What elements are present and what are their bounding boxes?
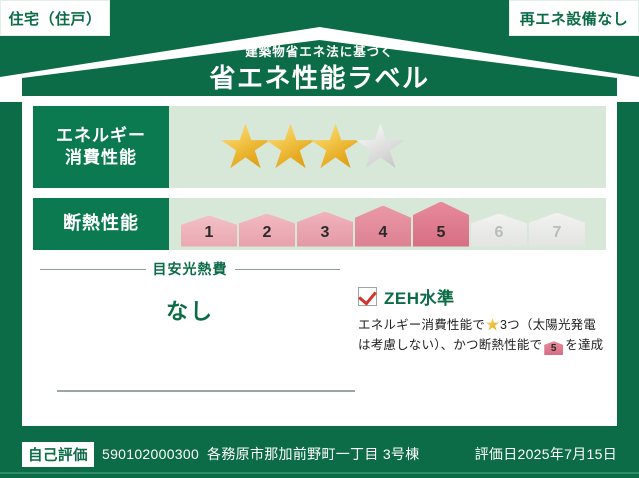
grade-badge-4-label: 4	[379, 224, 388, 242]
energy-performance-key-line2: 消費性能	[65, 147, 137, 169]
grade-badge-1-label: 1	[205, 224, 214, 242]
grade-badge-7-label: 7	[553, 224, 562, 242]
footer-evaluation-date: 評価日2025年7月15日	[475, 444, 617, 464]
energy-performance-key: エネルギー 消費性能	[33, 106, 169, 188]
tab-renewable-energy[interactable]: 再エネ設備なし	[509, 0, 639, 36]
tab-building-type-label: 住宅（住戸）	[8, 8, 101, 29]
energy-performance-key-line1: エネルギー	[56, 125, 146, 147]
star-icon-inline	[486, 318, 499, 331]
zeh-checkbox[interactable]	[358, 287, 377, 306]
insulation-performance-key: 断熱性能	[33, 198, 169, 250]
star-icon-1	[221, 124, 270, 171]
energy-performance-stars	[169, 106, 606, 188]
zeh-title-row: ZEH水準	[358, 284, 608, 309]
footer-divider	[0, 472, 639, 474]
grade-badge-2-label: 2	[263, 224, 272, 242]
grade-badge-1: 1	[181, 216, 237, 247]
utility-cost-value: なし	[40, 294, 340, 326]
star-icon-2	[266, 124, 315, 171]
insulation-performance-grades: 1 2 3 4 5 6 7	[169, 198, 606, 250]
utility-cost-caption: 目安光熱費	[146, 259, 235, 279]
tab-building-type[interactable]: 住宅（住戸）	[0, 0, 110, 36]
grade-badge-6-label: 6	[495, 224, 504, 242]
bottom-divider	[57, 390, 355, 392]
check-icon	[358, 286, 377, 305]
grade-badge-5-label: 5	[437, 224, 446, 242]
insulation-performance-key-label: 断熱性能	[63, 212, 139, 235]
utility-cost-rule-right	[235, 269, 341, 270]
grade-badge-4: 4	[355, 206, 411, 247]
zeh-desc-star-count: 3つ（太陽光発電	[500, 318, 596, 332]
self-evaluation-badge: 自己評価	[22, 442, 94, 467]
utility-cost-rule-left	[40, 269, 146, 270]
page-title: 省エネ性能ラベル	[0, 58, 639, 95]
footer-address: 各務原市那加前野町一丁目 3号棟	[207, 444, 419, 464]
grade-badge-3-label: 3	[321, 224, 330, 242]
label-card: エネルギー 消費性能 断熱性能 1 2 3 4 5	[22, 96, 617, 426]
footer-bar: 自己評価 590102000300 各務原市那加前野町一丁目 3号棟 評価日20…	[0, 430, 639, 478]
energy-performance-row: エネルギー 消費性能	[33, 106, 606, 188]
grade-list: 1 2 3 4 5 6 7	[181, 202, 587, 247]
energy-performance-label: 住宅（住戸） 再エネ設備なし 建築物省エネ法に基づく 省エネ性能ラベル エネルギ…	[0, 0, 639, 478]
zeh-desc-part2: は考慮しない）、かつ断熱性能で	[358, 338, 542, 352]
zeh-desc-part3: を達成	[565, 338, 603, 352]
insulation-performance-row: 断熱性能 1 2 3 4 5 6 7	[33, 198, 606, 250]
zeh-label: ZEH水準	[384, 284, 455, 309]
footer-id: 590102000300	[102, 446, 199, 462]
zeh-description: エネルギー消費性能で3つ（太陽光発電は考慮しない）、かつ断熱性能で5を達成	[358, 315, 608, 356]
tab-renewable-energy-label: 再エネ設備なし	[520, 8, 629, 29]
grade-badge-2: 2	[239, 214, 295, 247]
grade-badge-3: 3	[297, 212, 353, 247]
grade-badge-inline: 5	[544, 341, 563, 355]
grade-badge-5: 5	[413, 202, 469, 247]
star-icon-3	[311, 124, 360, 171]
grade-badge-6: 6	[471, 214, 527, 247]
utility-cost-header: 目安光熱費	[40, 262, 340, 276]
grade-badge-7: 7	[529, 213, 585, 247]
star-icon-4	[356, 124, 405, 171]
zeh-desc-part1: エネルギー消費性能で	[358, 318, 485, 332]
zeh-block: ZEH水準 エネルギー消費性能で3つ（太陽光発電は考慮しない）、かつ断熱性能で5…	[358, 284, 608, 356]
